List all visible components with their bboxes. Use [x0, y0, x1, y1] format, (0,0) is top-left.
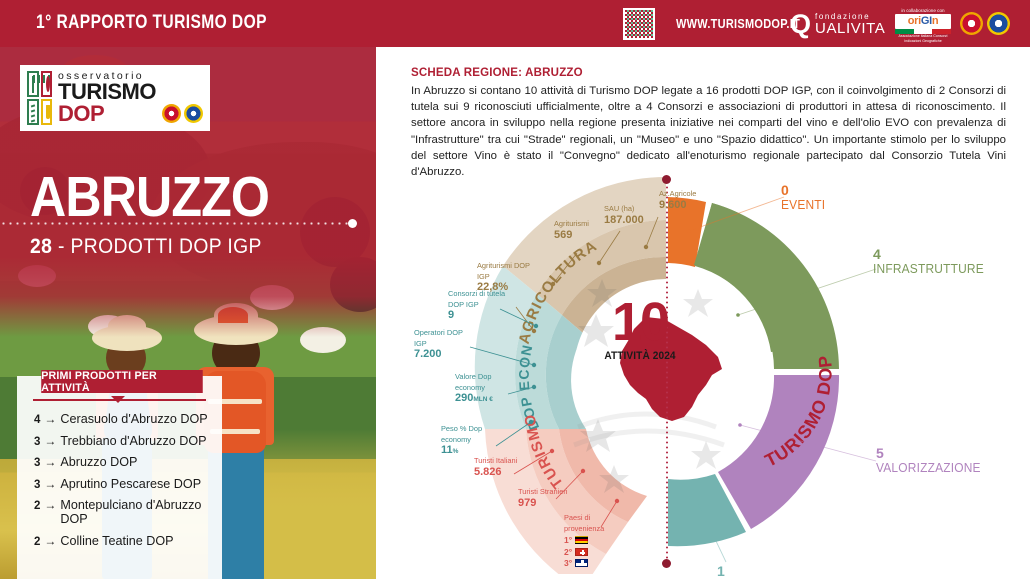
stat-turisti-stranieri-label: Turisti Stranieri — [518, 487, 568, 498]
bowl-icon — [41, 99, 53, 125]
product-count: 2 — [34, 536, 40, 548]
stat-agriturismi-value: 569 — [554, 230, 589, 241]
infographic-page: 1° RAPPORTO TURISMO DOP WWW.TURISMODOP.I… — [0, 0, 1030, 579]
legend-infrastrutture-value: 4 — [873, 247, 994, 262]
region-subtitle: 28 - PRODOTTI DOP IGP — [30, 235, 262, 259]
stat-az-agricole: Az.Agricole 9.600 — [659, 189, 696, 210]
list-item: 3 → Abruzzo DOP — [34, 455, 212, 469]
stat-valore-label: Valore Dop economy — [455, 372, 517, 393]
stat-turisti-stranieri-value: 979 — [518, 498, 568, 509]
stat-agriturismi: Agriturismi 569 — [554, 219, 589, 240]
legend-eventi-value: 0 — [781, 183, 829, 198]
product-count: 3 — [34, 479, 40, 491]
arrow-icon: → — [44, 534, 56, 548]
stat-agriturismi-dop: Agriturismi DOP IGP 22,8% — [477, 261, 537, 293]
scheda-paragraph: In Abruzzo si contano 10 attività di Tur… — [411, 83, 1006, 180]
provenance-rank-1-text: 1° — [564, 535, 572, 546]
stat-peso-dop-economy: Peso % Dop economy 11% — [441, 424, 503, 458]
stat-turisti-italiani-value: 5.826 — [474, 467, 524, 478]
legend-informazione-value: 1 — [717, 564, 824, 579]
origin-gi-text: GI — [921, 15, 932, 27]
arrow-icon: → — [44, 412, 56, 426]
product-name: Aprutino Pescarese DOP — [60, 477, 201, 491]
stat-valore-unit: MLN € — [473, 396, 493, 403]
stat-valore-value: 290 — [455, 392, 473, 404]
stat-agriturismi-label: Agriturismi — [554, 219, 589, 230]
provenance-rank-2: 2° — [564, 547, 626, 558]
qr-code-icon[interactable] — [623, 8, 655, 40]
observatory-logo: osservatorio TURISMO DOP — [20, 65, 210, 131]
origin-chip: oriGIn — [895, 14, 951, 29]
legend-eventi-label: EVENTI — [781, 198, 825, 212]
region-title: ABRUZZO — [30, 164, 269, 230]
legend-valorizzazione-label: VALORIZZAZIONE — [876, 461, 981, 475]
scheda-heading: SCHEDA REGIONE: ABRUZZO — [411, 65, 583, 79]
product-name: Abruzzo DOP — [60, 455, 137, 469]
product-count: 4 — [34, 414, 40, 426]
product-name: Cerasuolo d'Abruzzo DOP — [60, 412, 207, 426]
total-activities-number: 10 — [580, 296, 700, 348]
origin-n-text: n — [932, 15, 938, 27]
stat-turisti-italiani-label: Turisti Italiani — [474, 456, 524, 467]
list-item: 4 → Cerasuolo d'Abruzzo DOP — [34, 412, 212, 426]
product-name: Montepulciano d'Abruzzo DOP — [60, 498, 212, 526]
stat-operatori: Operatori DOP IGP 7.200 — [414, 328, 472, 360]
legend-infrastrutture: 4 INFRASTRUTTURE — [873, 247, 994, 275]
arrow-icon: → — [44, 498, 56, 512]
field-rows-icon — [27, 99, 39, 125]
arrow-icon: → — [44, 434, 56, 448]
legend-infrastrutture-label: INFRASTRUTTURE — [873, 262, 984, 276]
provenance-rank-3: 3° — [564, 558, 626, 569]
provenance-rank-3-text: 3° — [564, 558, 572, 569]
qualivita-logo: Q fondazione UALIVITA — [790, 11, 885, 37]
provenance-rank-1: 1° — [564, 535, 626, 546]
report-title: 1° RAPPORTO TURISMO DOP — [36, 12, 267, 34]
product-count: 2 — [34, 500, 40, 512]
arrow-icon: → — [44, 477, 56, 491]
arrow-icon: → — [44, 455, 56, 469]
total-activities-label: ATTIVITÀ 2024 — [585, 350, 695, 362]
logo-seals — [162, 104, 203, 123]
stat-sau-value: 187.000 — [604, 215, 644, 226]
stat-turisti-italiani: Turisti Italiani 5.826 — [474, 456, 524, 477]
logo-wordmark: osservatorio TURISMO DOP — [58, 71, 156, 126]
top-products-list: 4 → Cerasuolo d'Abruzzo DOP 3 → Trebbian… — [34, 412, 212, 555]
stat-peso-unit: % — [453, 448, 459, 455]
logo-turismo-label: TURISMO — [58, 81, 156, 103]
stat-az-agricole-label: Az.Agricole — [659, 189, 696, 200]
dotted-divider — [0, 222, 352, 225]
stat-consorzi-label: Consorzi di tutela DOP IGP — [448, 289, 506, 310]
product-count: 3 — [34, 457, 40, 469]
list-item: 2 → Colline Teatine DOP — [34, 534, 212, 548]
provenance-label: Paesi di provenienza — [564, 513, 626, 534]
uk-flag-icon — [575, 559, 588, 567]
right-content-panel: SCHEDA REGIONE: ABRUZZO In Abruzzo si co… — [376, 47, 1030, 579]
stat-consorzi: Consorzi di tutela DOP IGP 9 — [448, 289, 506, 321]
germany-flag-icon — [575, 536, 588, 544]
igp-seal-icon — [987, 12, 1010, 35]
provenance-rank-2-text: 2° — [564, 547, 572, 558]
legend-informazione: 1 IN-FORMAZIONE — [717, 564, 824, 579]
logo-dop-label: DOP — [58, 103, 156, 125]
dop-seal-icon — [162, 104, 181, 123]
legend-valorizzazione-value: 5 — [876, 446, 990, 461]
vertical-dotted-axis — [666, 180, 668, 563]
origin-logo: in collaborazione con oriGIn Associazion… — [895, 8, 951, 40]
products-count: 28 — [30, 235, 52, 258]
stat-valore-dop-economy: Valore Dop economy 290MLN € — [455, 372, 517, 406]
top-products-card: PRIMI PRODOTTI PER ATTIVITÀ 4 → Cerasuol… — [17, 376, 222, 579]
origin-subtitle: Associazione Italiana Consorzi Indicazio… — [895, 34, 951, 44]
turismo-dop-wheel-chart: AGRICOLTURA DOP ECONOMY TURISMO TURISMO … — [406, 169, 1006, 574]
axis-dot-bottom — [662, 559, 671, 568]
stat-operatori-value: 7.200 — [414, 349, 472, 360]
legend-valorizzazione: 5 VALORIZZAZIONE — [876, 446, 990, 474]
stat-peso-value: 11 — [441, 444, 453, 456]
igp-seal-icon — [184, 104, 203, 123]
product-name: Colline Teatine DOP — [60, 534, 173, 548]
header-bar: 1° RAPPORTO TURISMO DOP WWW.TURISMODOP.I… — [0, 0, 1030, 47]
products-count-label: - PRODOTTI DOP IGP — [58, 235, 262, 258]
plate-icon — [41, 71, 53, 97]
stat-operatori-label: Operatori DOP IGP — [414, 328, 472, 349]
card-divider — [33, 399, 206, 401]
product-name: Trebbiano d'Abruzzo DOP — [60, 434, 206, 448]
stat-agriturismi-dop-label: Agriturismi DOP IGP — [477, 261, 537, 282]
dop-seal-icon — [960, 12, 983, 35]
stat-sau-label: SAU (ha) — [604, 204, 644, 215]
qualivita-q-icon: Q — [790, 12, 811, 37]
list-item: 2 → Montepulciano d'Abruzzo DOP — [34, 498, 212, 526]
website-url[interactable]: WWW.TURISMODOP.IT — [676, 17, 800, 31]
logo-icon-grid — [27, 71, 52, 125]
stat-turisti-stranieri: Turisti Stranieri 979 — [518, 487, 568, 508]
qualivita-name-label: UALIVITA — [815, 21, 885, 36]
stat-peso-label: Peso % Dop economy — [441, 424, 503, 445]
switzerland-flag-icon — [575, 548, 588, 556]
fork-icon — [27, 71, 39, 97]
stat-sau: SAU (ha) 187.000 — [604, 204, 644, 225]
top-products-heading: PRIMI PRODOTTI PER ATTIVITÀ — [41, 370, 203, 393]
stat-paesi-provenienza: Paesi di provenienza 1° 2° 3° — [564, 513, 626, 569]
origin-ori-text: ori — [908, 15, 921, 27]
left-cover-panel: osservatorio TURISMO DOP ABRUZZO 28 - PR… — [0, 47, 376, 579]
product-count: 3 — [34, 436, 40, 448]
list-item: 3 → Aprutino Pescarese DOP — [34, 477, 212, 491]
axis-dot-top — [662, 175, 671, 184]
legend-eventi: 0 EVENTI — [781, 183, 829, 211]
stat-az-agricole-value: 9.600 — [659, 200, 696, 211]
list-item: 3 → Trebbiano d'Abruzzo DOP — [34, 434, 212, 448]
stat-consorzi-value: 9 — [448, 310, 506, 321]
